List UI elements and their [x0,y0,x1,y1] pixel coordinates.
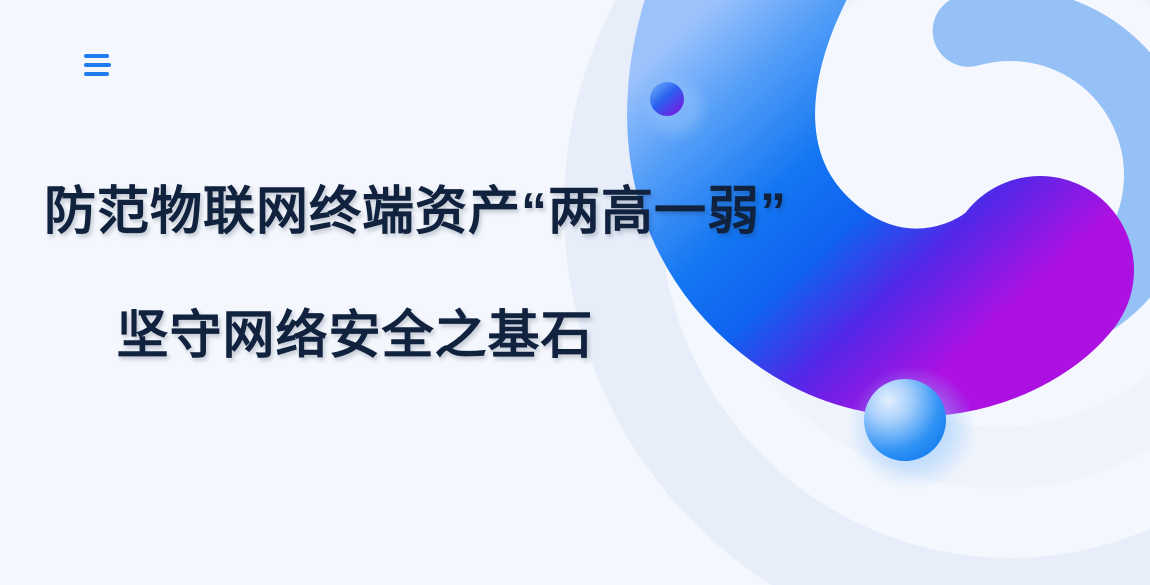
light-blue-arc-group [969,0,1150,319]
hero-title-block: 防范物联网终端资产“两高一弱” 坚守网络安全之基石 [0,186,870,362]
slide-canvas: 防范物联网终端资产“两高一弱” 坚守网络安全之基石 [0,0,1150,585]
small-sphere-glow [642,74,710,142]
hamburger-menu-button[interactable] [84,51,114,79]
large-blue-sphere [864,379,946,461]
hero-title-line-2: 坚守网络安全之基石 [0,310,870,362]
hamburger-menu-icon-bar-3 [84,72,109,76]
small-sphere-group [642,74,710,142]
hero-title-line-1: 防范物联网终端资产“两高一弱” [0,186,870,238]
small-blue-purple-sphere [650,82,684,116]
large-sphere-group [848,366,976,490]
hamburger-menu-icon-bar-2 [84,63,111,67]
hamburger-menu-icon-bar-1 [84,54,109,58]
large-sphere-glow [848,366,976,490]
light-blue-arc [969,0,1150,319]
